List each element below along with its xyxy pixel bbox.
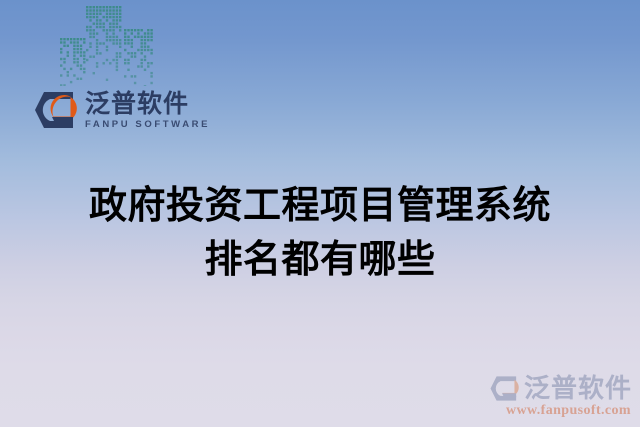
headline-line-1: 政府投资工程项目管理系统 xyxy=(0,178,640,232)
mosaic-svg xyxy=(56,2,156,86)
watermark-logo-mark-icon xyxy=(489,375,519,402)
pixel-mosaic-skyline-icon xyxy=(56,2,156,86)
fanpu-logo-mark-icon xyxy=(33,90,77,130)
watermark-url: www.fanpusoft.com xyxy=(506,403,631,419)
watermark-row: 泛普软件 xyxy=(489,375,632,402)
watermark: 泛普软件 www.fanpusoft.com xyxy=(489,375,632,419)
watermark-chinese-name: 泛普软件 xyxy=(524,376,632,402)
promo-banner: 泛普软件 FANPU SOFTWARE 政府投资工程项目管理系统 排名都有哪些 … xyxy=(0,0,640,427)
logo-english-name: FANPU SOFTWARE xyxy=(85,120,210,130)
logo-wordmark: 泛普软件 FANPU SOFTWARE xyxy=(85,91,210,130)
headline-line-2: 排名都有哪些 xyxy=(0,232,640,286)
brand-logo: 泛普软件 FANPU SOFTWARE xyxy=(33,90,210,130)
logo-chinese-name: 泛普软件 xyxy=(85,91,210,117)
headline: 政府投资工程项目管理系统 排名都有哪些 xyxy=(0,178,640,286)
